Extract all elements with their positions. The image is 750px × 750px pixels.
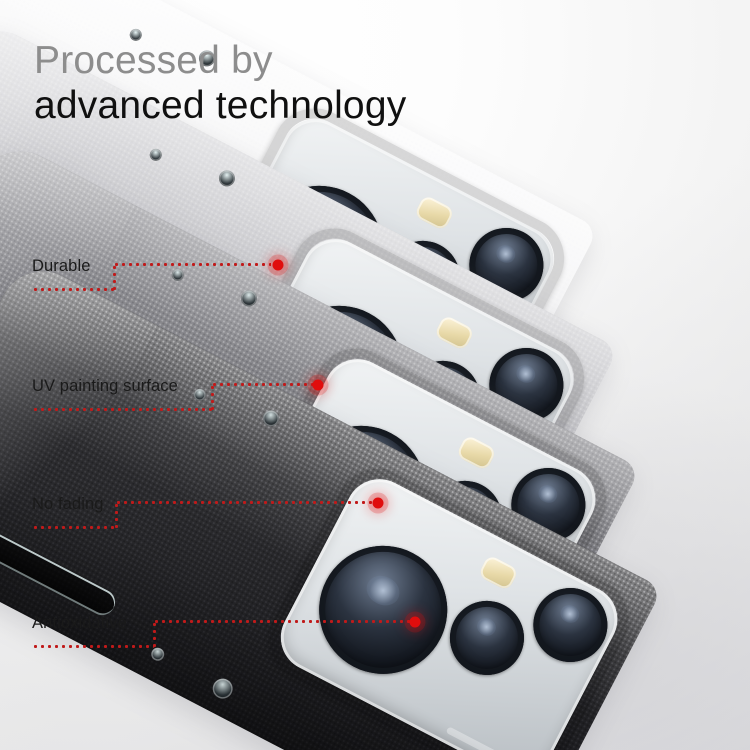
product-feature-image: Processed by advanced technology Durable… [0,0,750,750]
callout-label: UV painting surface [32,377,178,396]
callout-leader-line [113,263,271,266]
callout-leader-riser [153,621,156,647]
callout-leader-riser [113,264,116,290]
callout-leader-riser [115,502,118,528]
callout-leader-underline [32,408,212,411]
callout-leader-line [211,383,313,386]
callout-label: Antioxidative [32,614,127,633]
callout-label: No fading [32,495,104,514]
callout-marker-dot [373,498,384,509]
callout-marker-dot [410,617,421,628]
feature-callouts: Durable UV painting surface No fading [0,0,750,750]
callout-leader-underline [32,526,116,529]
callout-marker-dot [273,260,284,271]
callout-leader-line [153,620,410,623]
callout-leader-underline [32,645,154,648]
callout-leader-line [115,501,373,504]
callout-leader-riser [211,384,214,410]
callout-label: Durable [32,257,90,276]
callout-leader-underline [32,288,114,291]
callout-marker-dot [313,380,324,391]
